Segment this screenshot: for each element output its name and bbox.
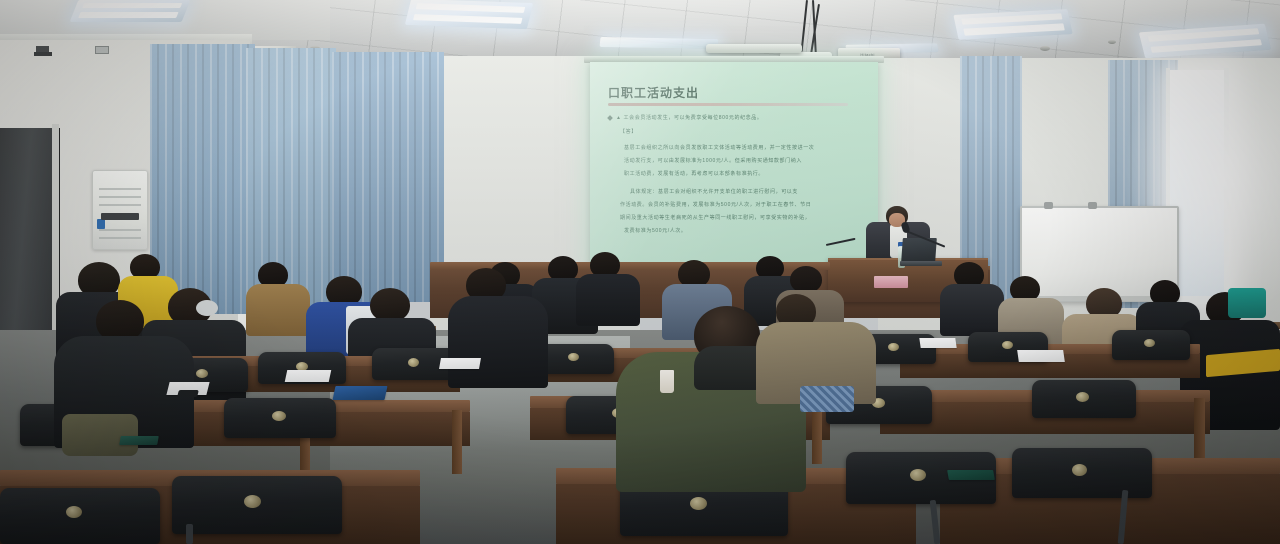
smoke-detector	[1108, 40, 1116, 44]
attendee-head	[370, 288, 410, 322]
chair-back[interactable]	[1032, 380, 1136, 418]
attendee-bag	[800, 386, 854, 412]
chair-back[interactable]	[172, 476, 342, 534]
desk-leg	[452, 410, 462, 474]
desk-leg	[1194, 398, 1205, 464]
chair-back[interactable]	[0, 488, 160, 544]
notebook	[119, 436, 159, 445]
wall-sensor-icon	[95, 46, 109, 54]
chair-leg	[186, 524, 193, 544]
attendee-torso	[940, 284, 1004, 336]
paper-sheet	[439, 358, 481, 369]
presenter-laptop-base	[900, 261, 942, 266]
chair-back[interactable]	[224, 398, 336, 438]
attendee-torso	[576, 274, 640, 326]
notebook	[947, 470, 995, 480]
window-curtain	[150, 44, 255, 314]
wall-air-conditioner	[92, 170, 148, 250]
desk-leg	[812, 404, 822, 464]
chair-back[interactable]	[1012, 448, 1152, 498]
smoke-detector	[1040, 46, 1050, 51]
ceiling-light-panel	[405, 0, 533, 29]
face-mask	[196, 300, 218, 316]
attendee-head	[790, 266, 822, 293]
mobile-phone	[177, 390, 199, 397]
paper-sheet	[1017, 350, 1065, 362]
attendee-torso	[448, 296, 548, 388]
conference-room-scene: Hitachi Hitachi	[0, 0, 1280, 544]
ac-brand-badge	[97, 219, 105, 228]
attendee-scarf	[1228, 288, 1266, 318]
paper-sheet	[919, 338, 956, 348]
projector-rail	[706, 44, 802, 53]
window-curtain	[332, 52, 444, 302]
podium-nameplate	[874, 276, 908, 288]
attendee-torso	[246, 284, 310, 336]
paper-sheet	[285, 370, 332, 382]
attendee-bag	[62, 414, 138, 456]
coffee-cup	[660, 370, 674, 393]
ceiling-light-panel	[70, 0, 191, 22]
ceiling-light-strip	[599, 37, 718, 49]
notebook	[333, 386, 388, 400]
ac-vent	[101, 213, 140, 220]
wall-bracket	[34, 52, 52, 56]
chair-back[interactable]	[1112, 330, 1190, 360]
